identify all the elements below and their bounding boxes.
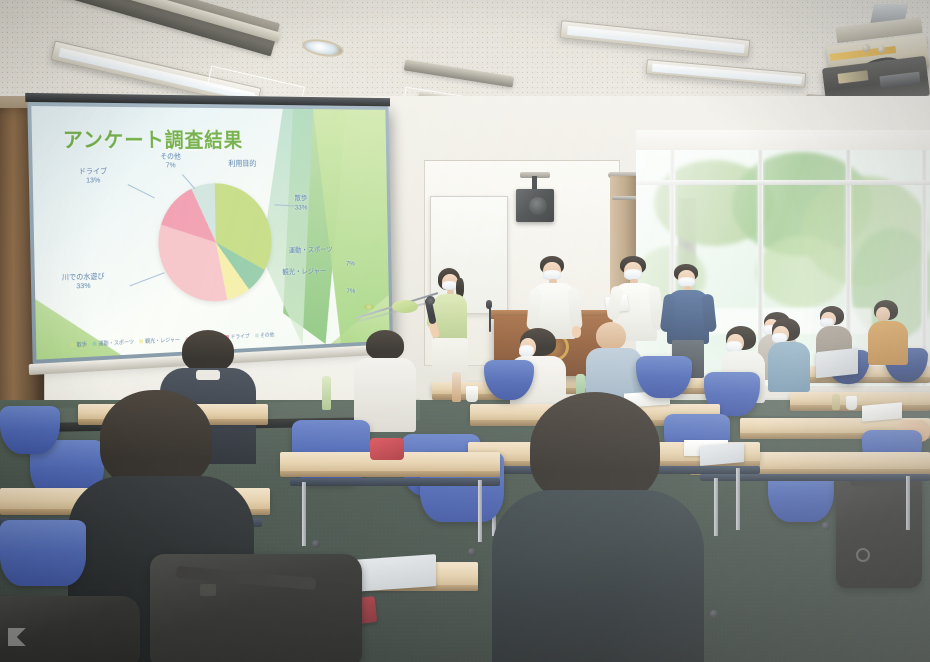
legend-item-5: その他 [255,331,275,339]
paper-cup-center[interactable] [466,386,478,402]
hair [366,330,404,360]
backpack-left-logo-icon [8,628,34,646]
chair-caster-right [822,522,830,530]
pie-label-river-pct: 33% [62,280,105,291]
chair-caster-center-3 [710,610,718,618]
classroom-presentation-photo: アンケート調査結果 利用目的 散歩 33% 運動・スポーツ 7% [0,0,930,662]
desk-rail-right [700,474,930,481]
laptop-right[interactable] [816,348,858,378]
legend-item-0: 散歩 [71,340,87,349]
torso [868,321,908,365]
speaker-stem [532,176,537,190]
pointer-tip [364,304,374,310]
pie-label-other-pct: 7% [160,161,181,170]
laptop-center[interactable] [700,442,744,466]
desk-leg-right-2 [906,476,910,530]
backpack-right-logo-icon [856,548,870,562]
projection-screen: アンケート調査結果 利用目的 散歩 33% 運動・スポーツ 7% [27,102,393,364]
torso-tshirt-dark [492,490,704,662]
slide-surface: アンケート調査結果 利用目的 散歩 33% 運動・スポーツ 7% [31,106,389,360]
pie-label-other: その他 7% [160,152,181,170]
desk-edge [790,405,930,411]
pointer-hand [392,300,418,313]
hair [530,392,660,504]
legend-item-2: 観光・レジャー [140,336,180,346]
pie-callout-drive [128,184,155,198]
desk-right-upper [790,392,930,406]
pie-label-drive-pct: 13% [79,176,107,185]
desk-leg-left-1 [302,482,306,546]
projector-knob-1 [862,44,870,52]
chair-foreground-left[interactable] [0,520,86,586]
hair [100,390,212,488]
pie-circle [157,183,272,304]
pie-label-leisure-pct: 7% [346,287,355,296]
lectern-mic-stand [489,306,491,332]
chair-caster-left-1 [312,540,320,548]
chair-caster-center-2 [468,548,476,556]
pie-label-sanpo: 散歩 33% [294,194,307,212]
chart-caption: 利用目的 [228,159,256,170]
pie-label-sports: 運動・スポーツ [289,245,333,255]
shirt-collar [196,370,220,380]
lectern-mic-head [486,300,492,309]
skirt [432,338,468,382]
hair [182,330,234,372]
microphone-grille-icon [426,296,435,305]
legend-swatch-1 [93,342,97,346]
pie-label-leisure-name: 観光・レジャー [282,267,326,277]
slide-title: アンケート調査結果 [63,124,244,154]
legend-swatch-0 [71,343,75,347]
pie-label-river: 川での水遊び 33% [62,271,105,291]
bottle-left[interactable] [322,376,331,410]
legend-swatch-2 [140,339,144,343]
pie-label-sports-name: 運動・スポーツ [289,245,333,255]
desk-rail-left-mid [290,478,500,486]
pie-label-sports-pct: 7% [346,259,355,268]
bottle-right[interactable] [832,394,840,410]
chair-left-upper-2[interactable] [0,406,60,454]
desk-leg-left-2 [478,480,482,542]
pie-label-sanpo-name: 散歩 [294,194,307,203]
desk-leg-right-1 [714,478,718,536]
backpack-buckle-icon [200,584,216,596]
head-bald [596,322,626,350]
paper-cup-right[interactable] [846,396,857,410]
pie-label-other-name: その他 [160,152,181,161]
bottle-center-2[interactable] [452,372,461,402]
legend-item-1: 運動・スポーツ [93,338,135,348]
desk-edge [280,471,500,477]
screen-frame: アンケート調査結果 利用目的 散歩 33% 運動・スポーツ 7% [27,102,393,364]
pie-label-drive: ドライブ 13% [79,167,108,186]
red-pouch[interactable] [370,438,404,460]
pie-label-leisure: 観光・レジャー [282,267,326,277]
face [876,307,890,322]
legend-swatch-5 [255,334,259,338]
torso-hoodie [768,342,810,392]
projector-knob-2 [878,46,885,53]
pie-label-sanpo-pct: 33% [295,203,308,212]
pie-chart [157,183,272,304]
desk-leg-center-2 [736,468,740,530]
hand-right [572,326,581,338]
slide-decoration-4 [35,290,135,360]
speaker-cone-icon [529,197,547,215]
face-mask [442,281,457,290]
